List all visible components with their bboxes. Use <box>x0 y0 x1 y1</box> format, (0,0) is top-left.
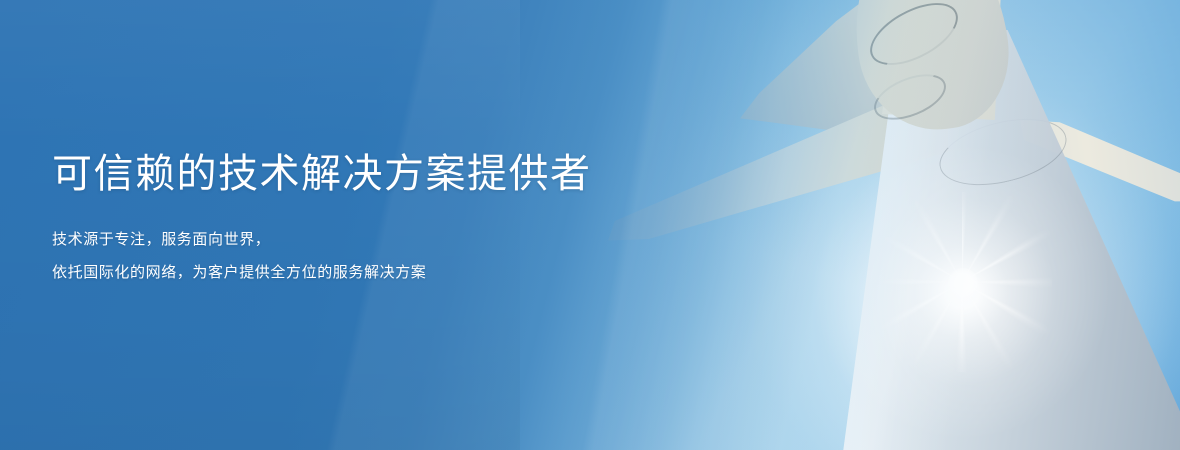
hero-subtitle-line-1: 技术源于专注，服务面向世界， <box>52 223 592 256</box>
hero-copy: 可信赖的技术解决方案提供者 技术源于专注，服务面向世界， 依托国际化的网络，为客… <box>52 152 592 289</box>
hero-subtitle-line-2: 依托国际化的网络，为客户提供全方位的服务解决方案 <box>52 256 592 289</box>
hero-banner: 可信赖的技术解决方案提供者 技术源于专注，服务面向世界， 依托国际化的网络，为客… <box>0 0 1180 450</box>
hero-subtitle: 技术源于专注，服务面向世界， 依托国际化的网络，为客户提供全方位的服务解决方案 <box>52 223 592 289</box>
page-title: 可信赖的技术解决方案提供者 <box>52 152 592 197</box>
